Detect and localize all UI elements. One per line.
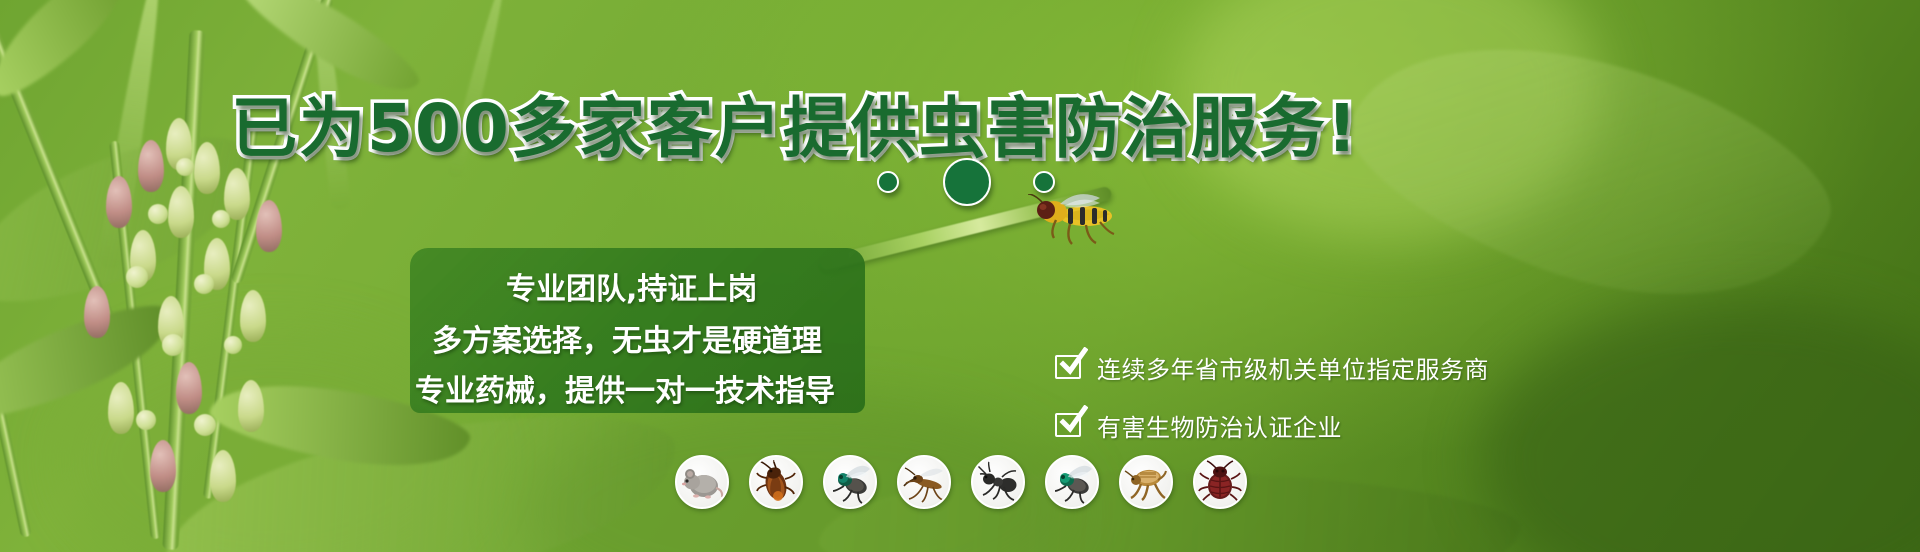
- pest-types-icon-row: [675, 455, 1247, 509]
- greenbottle-fly-icon[interactable]: [1045, 455, 1099, 509]
- credentials-checklist: 连续多年省市级机关单位指定服务商 有害生物防治认证企业: [1055, 338, 1615, 454]
- headline-text: 已为500多家客户提供虫害防治服务!: [231, 90, 1359, 167]
- feature-highlight-box: 专业团队,持证上岗 多方案选择，无虫才是硬道理 专业药械，提供一对一技术指导: [410, 248, 865, 413]
- decor-dot-small-left: [877, 171, 899, 193]
- decor-dot-large-center: [943, 158, 991, 206]
- feature-line-3: 专业药械，提供一对一技术指导: [415, 366, 835, 410]
- rodent-mouse-icon[interactable]: [675, 455, 729, 509]
- ant-icon[interactable]: [971, 455, 1025, 509]
- bedbug-icon[interactable]: [1193, 455, 1247, 509]
- checklist-item-1: 连续多年省市级机关单位指定服务商: [1055, 338, 1615, 396]
- feature-line-2: 多方案选择，无虫才是硬道理: [432, 316, 822, 360]
- feature-line-1: 专业团队,持证上岗: [506, 264, 757, 308]
- check-tick-icon: [1058, 405, 1088, 435]
- check-tick-icon: [1058, 347, 1088, 377]
- checklist-item-2: 有害生物防治认证企业: [1055, 396, 1615, 454]
- cockroach-icon[interactable]: [749, 455, 803, 509]
- mosquito-icon[interactable]: [897, 455, 951, 509]
- housefly-icon[interactable]: [823, 455, 877, 509]
- flea-icon[interactable]: [1119, 455, 1173, 509]
- grass-stalk-decor: [820, 200, 1140, 320]
- hoverfly-insect-icon: [1016, 194, 1120, 248]
- checkbox-checked-icon: [1055, 413, 1081, 437]
- pest-control-promo-banner: 已为500多家客户提供虫害防治服务!: [0, 0, 1920, 552]
- page-title: 已为500多家客户提供虫害防治服务!: [0, 75, 1590, 171]
- checkbox-checked-icon: [1055, 355, 1081, 379]
- checklist-item-2-label: 有害生物防治认证企业: [1097, 408, 1342, 443]
- decor-dot-small-right: [1033, 171, 1055, 193]
- checklist-item-1-label: 连续多年省市级机关单位指定服务商: [1097, 350, 1489, 385]
